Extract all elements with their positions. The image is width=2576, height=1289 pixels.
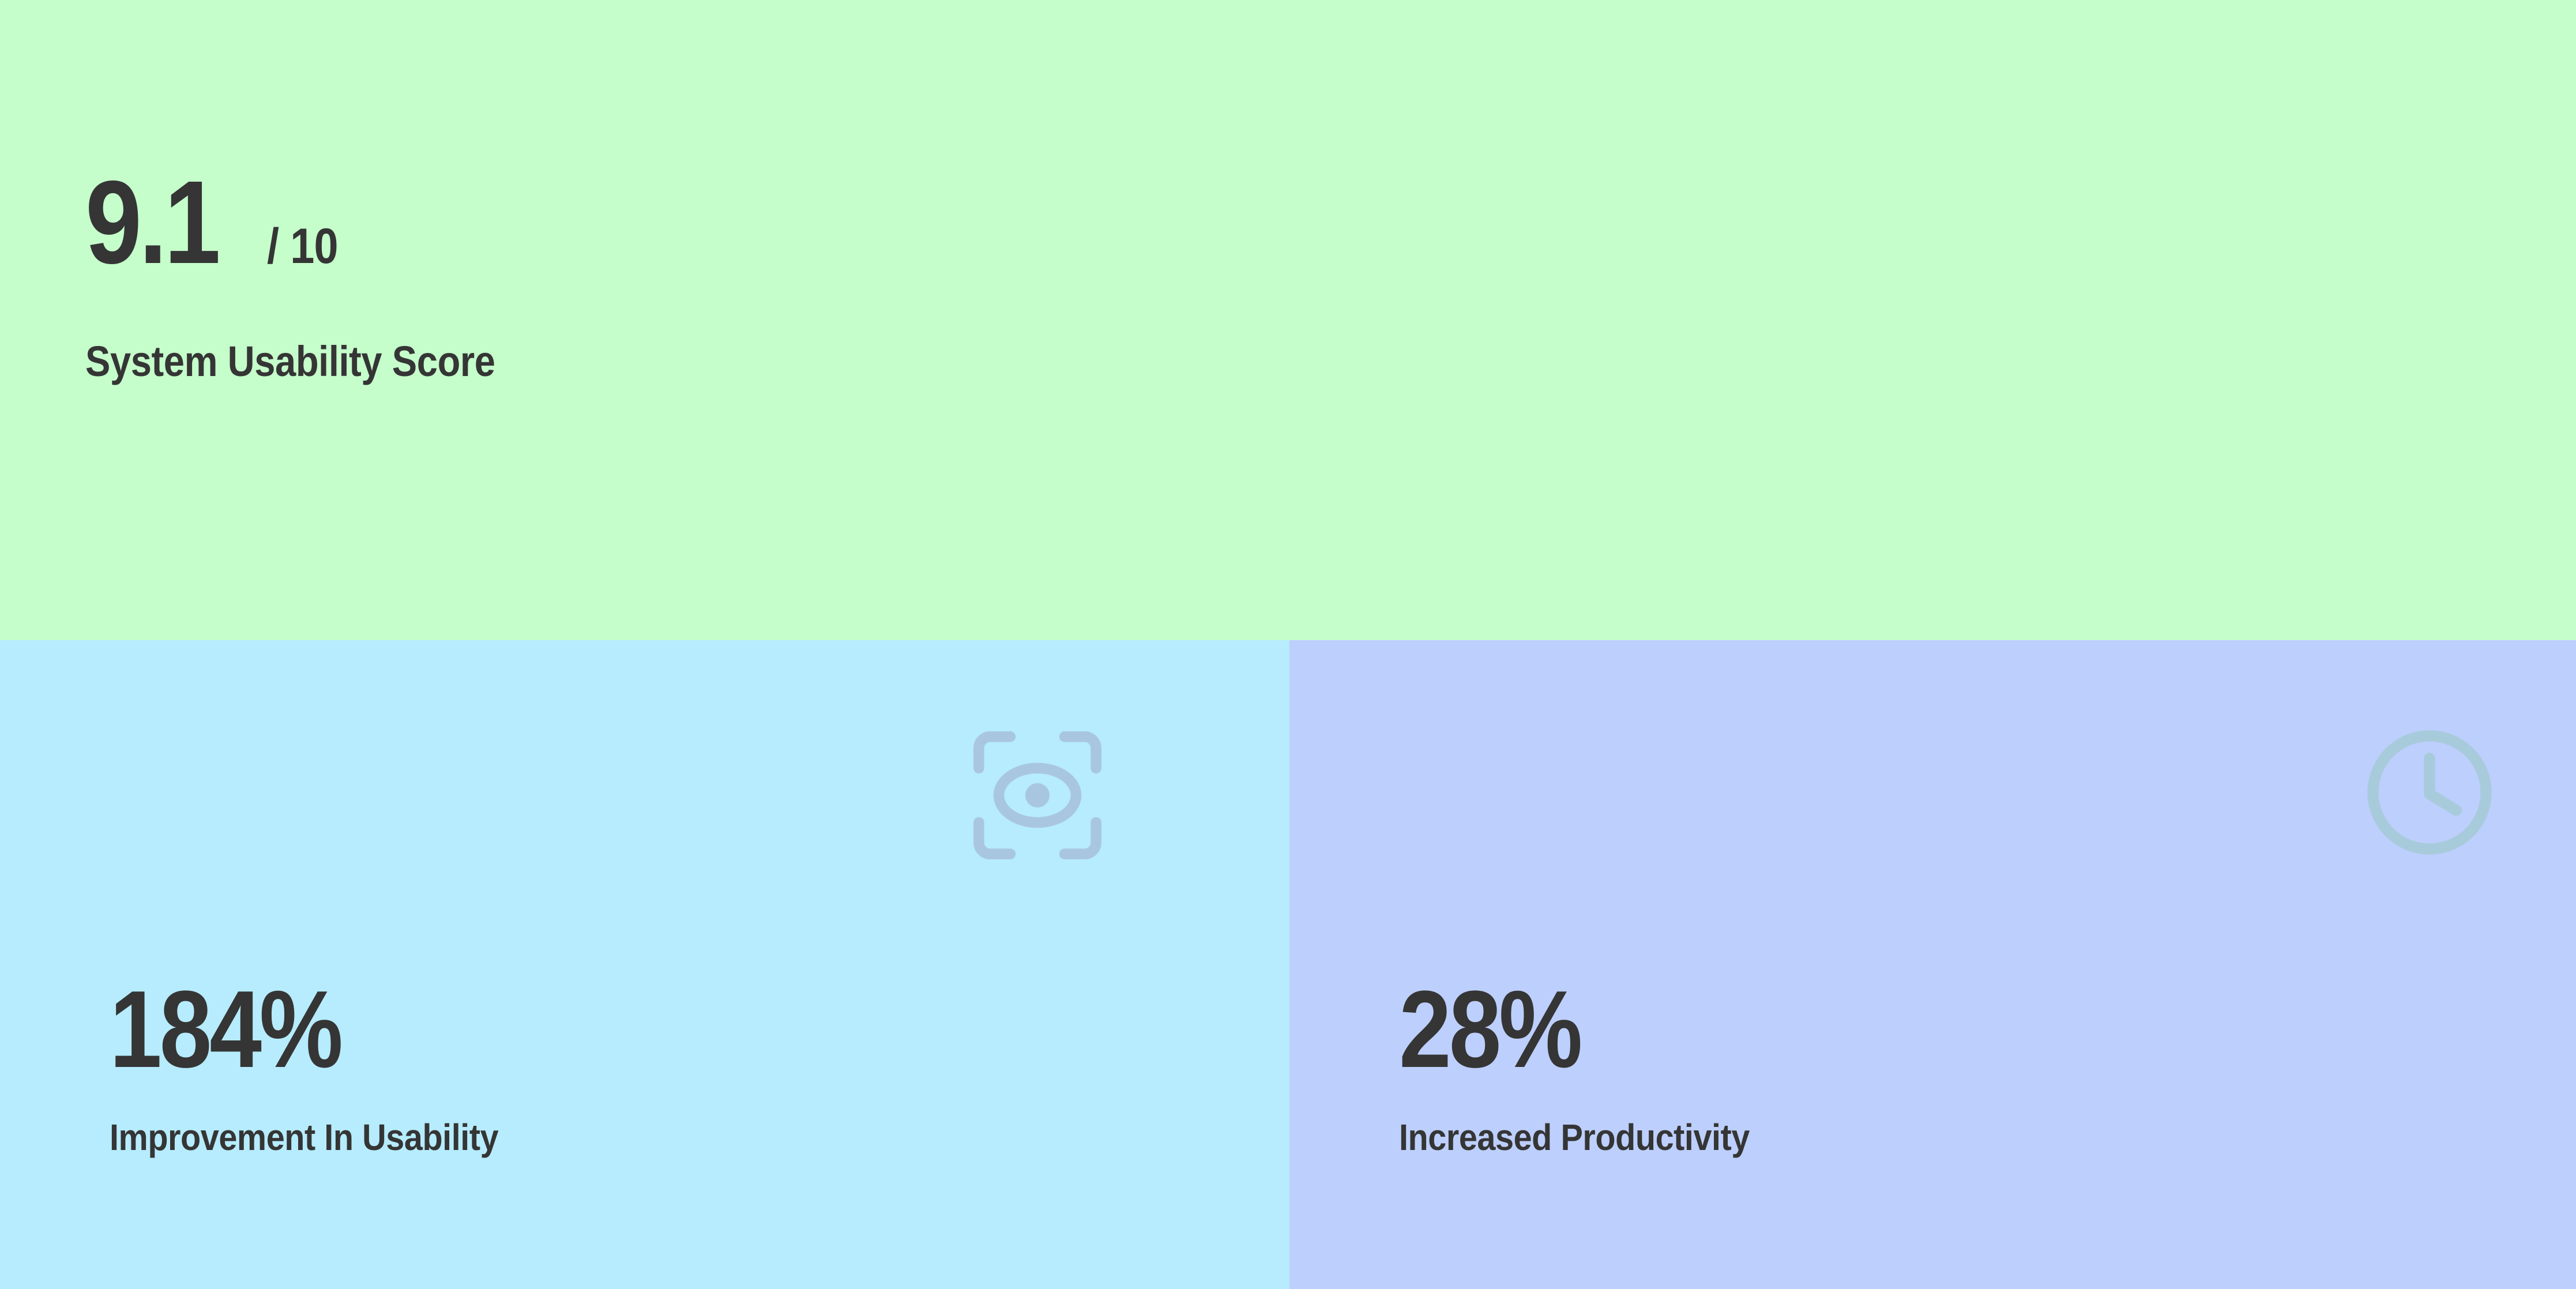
usability-score-suffix: / 10 <box>267 226 338 267</box>
clock-icon <box>2355 718 2504 867</box>
productivity-label: Increased Productivity <box>1399 1116 2458 1159</box>
productivity-value: 28% <box>1399 980 2411 1079</box>
usability-score-value-group: 9.1 / 10 <box>85 173 2576 272</box>
panel-improvement-in-usability: 184% Improvement In Usability <box>0 640 1289 1289</box>
usability-score-number: 9.1 <box>85 173 218 272</box>
panel-increased-productivity: 28% Increased Productivity <box>1289 640 2576 1289</box>
panel-row-bottom: 184% Improvement In Usability 28% Increa… <box>0 640 2576 1289</box>
stats-board: 9.1 / 10 System Usability Score <box>0 0 2576 1289</box>
panel-usability-score: 9.1 / 10 System Usability Score <box>0 0 2576 640</box>
improvement-value: 184% <box>110 980 1125 1079</box>
eye-scan-icon <box>966 724 1109 867</box>
improvement-label: Improvement In Usability <box>110 1116 1171 1159</box>
usability-score-label: System Usability Score <box>85 337 2277 386</box>
